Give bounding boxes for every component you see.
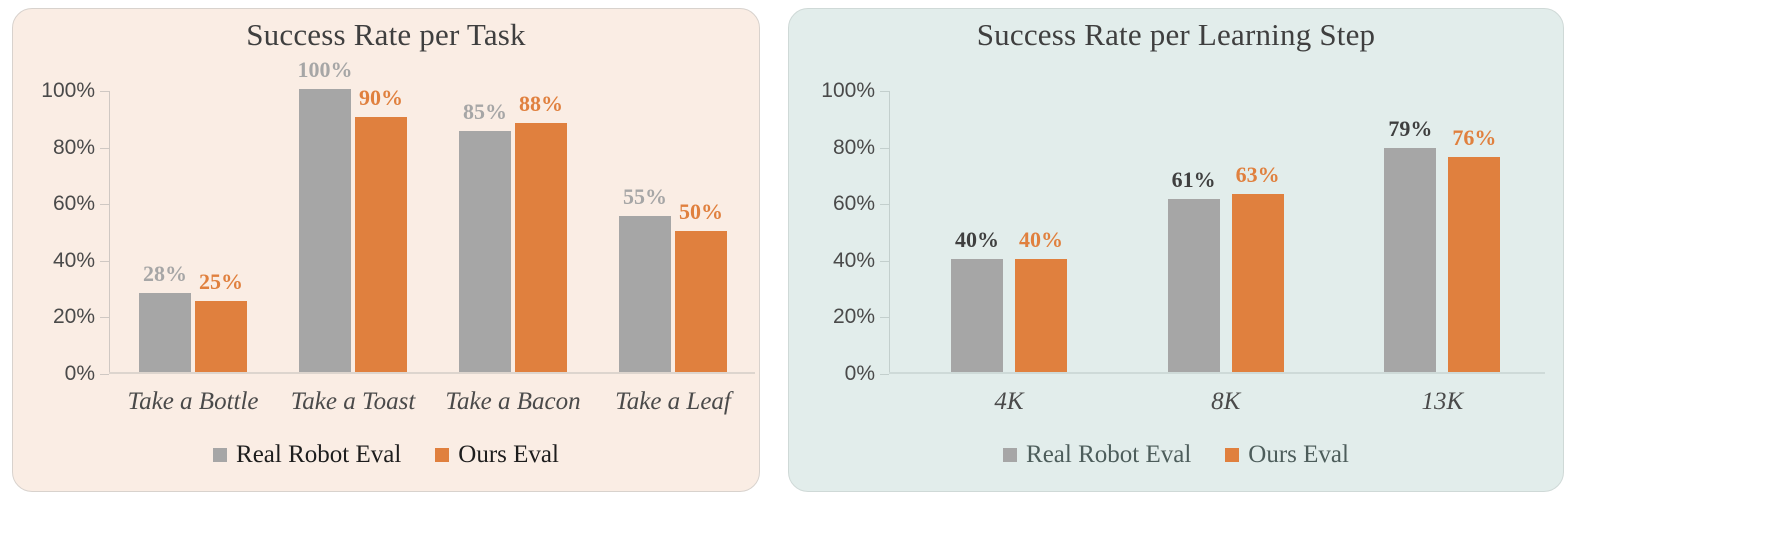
bar-value-label: 76%: [1452, 125, 1496, 151]
chart-title-right: Success Rate per Learning Step: [789, 17, 1563, 53]
bar-ours-eval[interactable]: 76%: [1448, 157, 1500, 372]
legend-swatch-orange-icon: [1225, 448, 1239, 462]
legend-swatch-orange-icon: [435, 448, 449, 462]
y-tick: [100, 317, 109, 318]
legend-swatch-gray-icon: [213, 448, 227, 462]
legend-item-ours-eval-right[interactable]: Ours Eval: [1225, 441, 1349, 469]
bar-ours-eval[interactable]: 25%: [195, 301, 247, 372]
bar-value-label: 63%: [1236, 162, 1280, 188]
y-axis-label: 20%: [833, 305, 875, 329]
legend-swatch-gray-icon: [1003, 448, 1017, 462]
bar-value-label: 55%: [623, 184, 667, 210]
bar-real-robot-eval[interactable]: 55%: [619, 216, 671, 372]
legend-label-real-robot-eval: Real Robot Eval: [236, 441, 401, 469]
y-tick: [880, 261, 889, 262]
x-axis-category-label: Take a Bacon: [445, 388, 580, 416]
bar-group: 79%76%13K: [1322, 91, 1539, 374]
y-tick: [100, 374, 109, 375]
bar-real-robot-eval[interactable]: 28%: [139, 293, 191, 372]
chart-panel-success-rate-per-learning-step: Success Rate per Learning Step 0%20%40%6…: [788, 8, 1564, 492]
y-axis-label: 100%: [41, 79, 95, 103]
plot-area-left: 0%20%40%60%80%100% 28%25%Take a Bottle10…: [109, 91, 749, 374]
x-axis-category-label: Take a Leaf: [615, 388, 731, 416]
bar-value-label: 28%: [143, 261, 187, 287]
chart-title-left: Success Rate per Task: [13, 17, 759, 53]
y-tick: [880, 91, 889, 92]
bar-group: 40%40%4K: [889, 91, 1106, 374]
y-axis-label: 60%: [833, 192, 875, 216]
y-tick: [880, 148, 889, 149]
y-axis-label: 80%: [833, 136, 875, 160]
legend-item-real-robot-eval-left[interactable]: Real Robot Eval: [213, 441, 401, 469]
y-axis-label: 80%: [53, 136, 95, 160]
x-axis-category-label: Take a Bottle: [127, 388, 258, 416]
legend-item-ours-eval-left[interactable]: Ours Eval: [435, 441, 559, 469]
y-tick: [100, 148, 109, 149]
legend-left: Real Robot Eval Ours Eval: [13, 441, 759, 469]
y-tick: [880, 204, 889, 205]
bar-value-label: 40%: [955, 227, 999, 253]
bar-value-label: 90%: [359, 85, 403, 111]
bar-real-robot-eval[interactable]: 100%: [299, 89, 351, 372]
legend-label-real-robot-eval: Real Robot Eval: [1026, 441, 1191, 469]
y-tick: [100, 91, 109, 92]
y-axis-label: 60%: [53, 192, 95, 216]
bar-value-label: 40%: [1019, 227, 1063, 253]
bar-ours-eval[interactable]: 90%: [355, 117, 407, 372]
bar-value-label: 25%: [199, 269, 243, 295]
y-axis-label: 100%: [821, 79, 875, 103]
bar-ours-eval[interactable]: 50%: [675, 231, 727, 373]
bar-group: 85%88%Take a Bacon: [429, 91, 589, 374]
figure-root: Success Rate per Task 0%20%40%60%80%100%…: [0, 0, 1774, 550]
y-axis-label: 0%: [845, 362, 875, 386]
bar-value-label: 100%: [298, 57, 353, 83]
bar-group: 55%50%Take a Leaf: [589, 91, 749, 374]
x-axis-category-label: 8K: [1211, 388, 1240, 416]
x-axis-category-label: 4K: [994, 388, 1023, 416]
bar-real-robot-eval[interactable]: 61%: [1168, 199, 1220, 372]
y-axis-label: 0%: [65, 362, 95, 386]
y-tick: [100, 204, 109, 205]
plot-area-right: 0%20%40%60%80%100% 40%40%4K61%63%8K79%76…: [889, 91, 1539, 374]
x-axis-category-label: Take a Toast: [291, 388, 416, 416]
bar-ours-eval[interactable]: 63%: [1232, 194, 1284, 372]
bar-ours-eval[interactable]: 40%: [1015, 259, 1067, 372]
bar-value-label: 88%: [519, 91, 563, 117]
y-axis-label: 20%: [53, 305, 95, 329]
bar-value-label: 61%: [1172, 167, 1216, 193]
bar-group: 28%25%Take a Bottle: [109, 91, 269, 374]
y-tick: [880, 317, 889, 318]
bar-real-robot-eval[interactable]: 40%: [951, 259, 1003, 372]
bar-ours-eval[interactable]: 88%: [515, 123, 567, 372]
legend-label-ours-eval: Ours Eval: [458, 441, 559, 469]
legend-right: Real Robot Eval Ours Eval: [789, 441, 1563, 469]
bar-real-robot-eval[interactable]: 79%: [1384, 148, 1436, 372]
bar-group: 61%63%8K: [1106, 91, 1323, 374]
bar-group: 100%90%Take a Toast: [269, 91, 429, 374]
y-tick: [880, 374, 889, 375]
y-tick: [100, 261, 109, 262]
bar-value-label: 50%: [679, 199, 723, 225]
legend-label-ours-eval: Ours Eval: [1248, 441, 1349, 469]
x-axis-category-label: 13K: [1421, 388, 1463, 416]
y-axis-label: 40%: [833, 249, 875, 273]
legend-item-real-robot-eval-right[interactable]: Real Robot Eval: [1003, 441, 1191, 469]
bar-real-robot-eval[interactable]: 85%: [459, 131, 511, 372]
bar-value-label: 79%: [1388, 116, 1432, 142]
y-axis-label: 40%: [53, 249, 95, 273]
bar-value-label: 85%: [463, 99, 507, 125]
chart-panel-success-rate-per-task: Success Rate per Task 0%20%40%60%80%100%…: [12, 8, 760, 492]
